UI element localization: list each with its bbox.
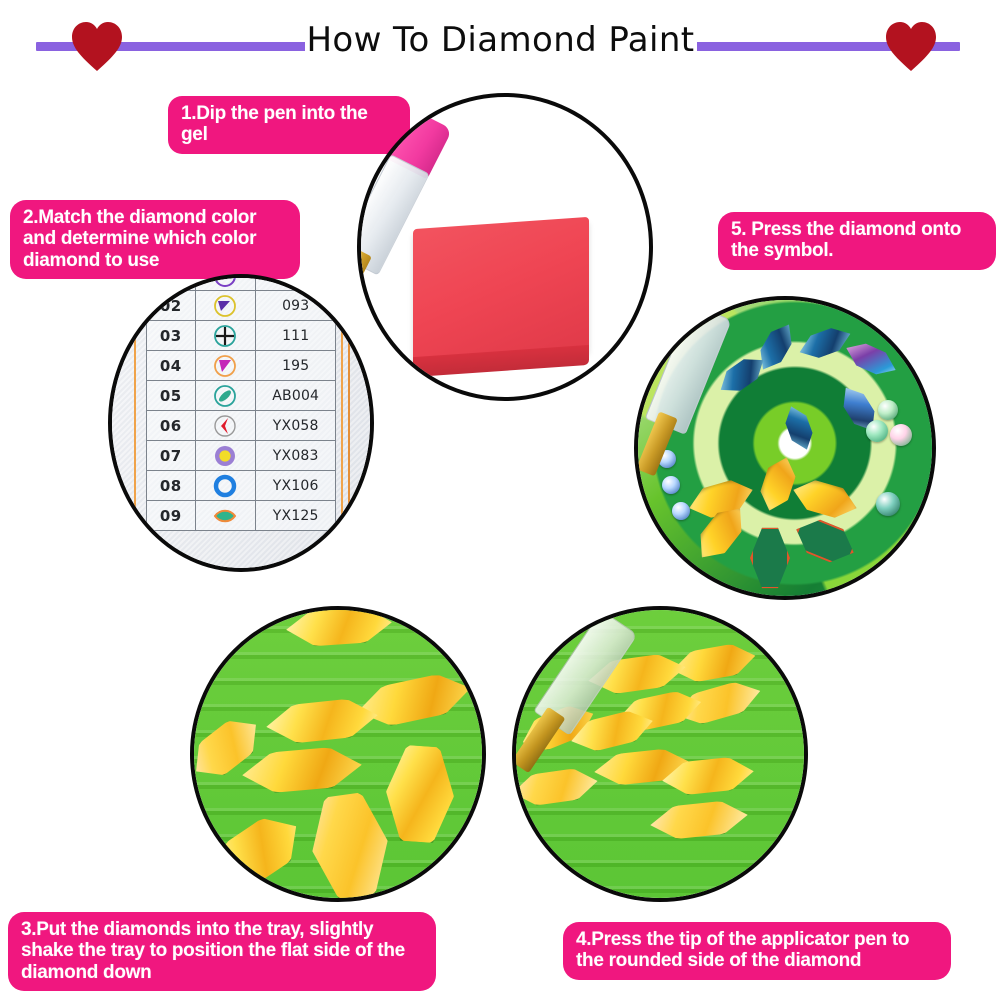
step-3-label: 3.Put the diamonds into the tray, slight… (8, 912, 436, 991)
cell-code: AB004 (256, 381, 336, 411)
cell-code: 195 (256, 351, 336, 381)
canvas-gem (672, 502, 690, 520)
cell-symbol (195, 291, 256, 321)
canvas-gem (890, 424, 912, 446)
yellow-dot-circle-icon (213, 444, 237, 468)
step-5-label: 5. Press the diamond onto the symbol. (718, 212, 996, 270)
table-row: 08 YX106 (147, 471, 336, 501)
cell-symbol (195, 411, 256, 441)
canvas-gem (876, 492, 900, 516)
step-5-photo (634, 296, 936, 600)
page-header: How To Diamond Paint (0, 0, 1001, 80)
cell-symbol (195, 471, 256, 501)
table-row: 07 YX083 (147, 441, 336, 471)
cell-code: YX125 (256, 501, 336, 531)
cell-code: YX083 (256, 441, 336, 471)
green-leaf-icon (213, 504, 237, 528)
chart-margin-line (341, 274, 343, 572)
cell-no: 02 (147, 291, 196, 321)
cell-no: 05 (147, 381, 196, 411)
blue-ring-circle-icon (213, 474, 237, 498)
chart-paper: 028 02 093 (108, 274, 374, 572)
magenta-triangle-circle-icon (213, 354, 237, 378)
step-2-photo: 028 02 093 (108, 274, 374, 572)
table-row: 09 YX125 (147, 501, 336, 531)
step-4-photo (512, 606, 808, 902)
cell-symbol (195, 501, 256, 531)
chart-body: 028 02 093 (147, 274, 336, 531)
cell-no: 03 (147, 321, 196, 351)
step-3-photo (190, 606, 486, 902)
cell-no: 04 (147, 351, 196, 381)
left-arrow-circle-icon (213, 414, 237, 438)
cell-code: 028 (256, 274, 336, 291)
cell-no: 06 (147, 411, 196, 441)
chart-margin-line (134, 274, 136, 572)
cell-symbol (195, 381, 256, 411)
page-title: How To Diamond Paint (0, 20, 1001, 60)
slash-oval-circle-icon (213, 384, 237, 408)
step-4-label: 4.Press the tip of the applicator pen to… (563, 922, 951, 980)
cell-symbol (195, 351, 256, 381)
cell-code: 111 (256, 321, 336, 351)
cell-code: YX106 (256, 471, 336, 501)
table-row: 03 111 (147, 321, 336, 351)
diamond-color-chart: 028 02 093 (146, 274, 336, 531)
step-1-photo (357, 93, 653, 401)
step-2-label: 2.Match the diamond color and determine … (10, 200, 300, 279)
chart-margin-line (348, 274, 350, 572)
cell-code: 093 (256, 291, 336, 321)
table-row: 06 YX058 (147, 411, 336, 441)
canvas-gem (866, 420, 888, 442)
pen-metal-tip (636, 411, 678, 476)
gel-pad (413, 217, 589, 363)
poster-root: How To Diamond Paint 1.Dip the pen into … (0, 0, 1001, 1001)
filled-triangle-circle-icon (213, 294, 237, 318)
table-row: 04 195 (147, 351, 336, 381)
cell-no: 08 (147, 471, 196, 501)
cell-code: YX058 (256, 411, 336, 441)
table-row: 02 093 (147, 291, 336, 321)
cell-no: 07 (147, 441, 196, 471)
double-dot-circle-icon (213, 274, 237, 288)
cell-no: 09 (147, 501, 196, 531)
plus-circle-icon (213, 324, 237, 348)
cell-symbol (195, 321, 256, 351)
canvas-gem (878, 400, 898, 420)
table-row: 05 AB004 (147, 381, 336, 411)
cell-symbol (195, 441, 256, 471)
